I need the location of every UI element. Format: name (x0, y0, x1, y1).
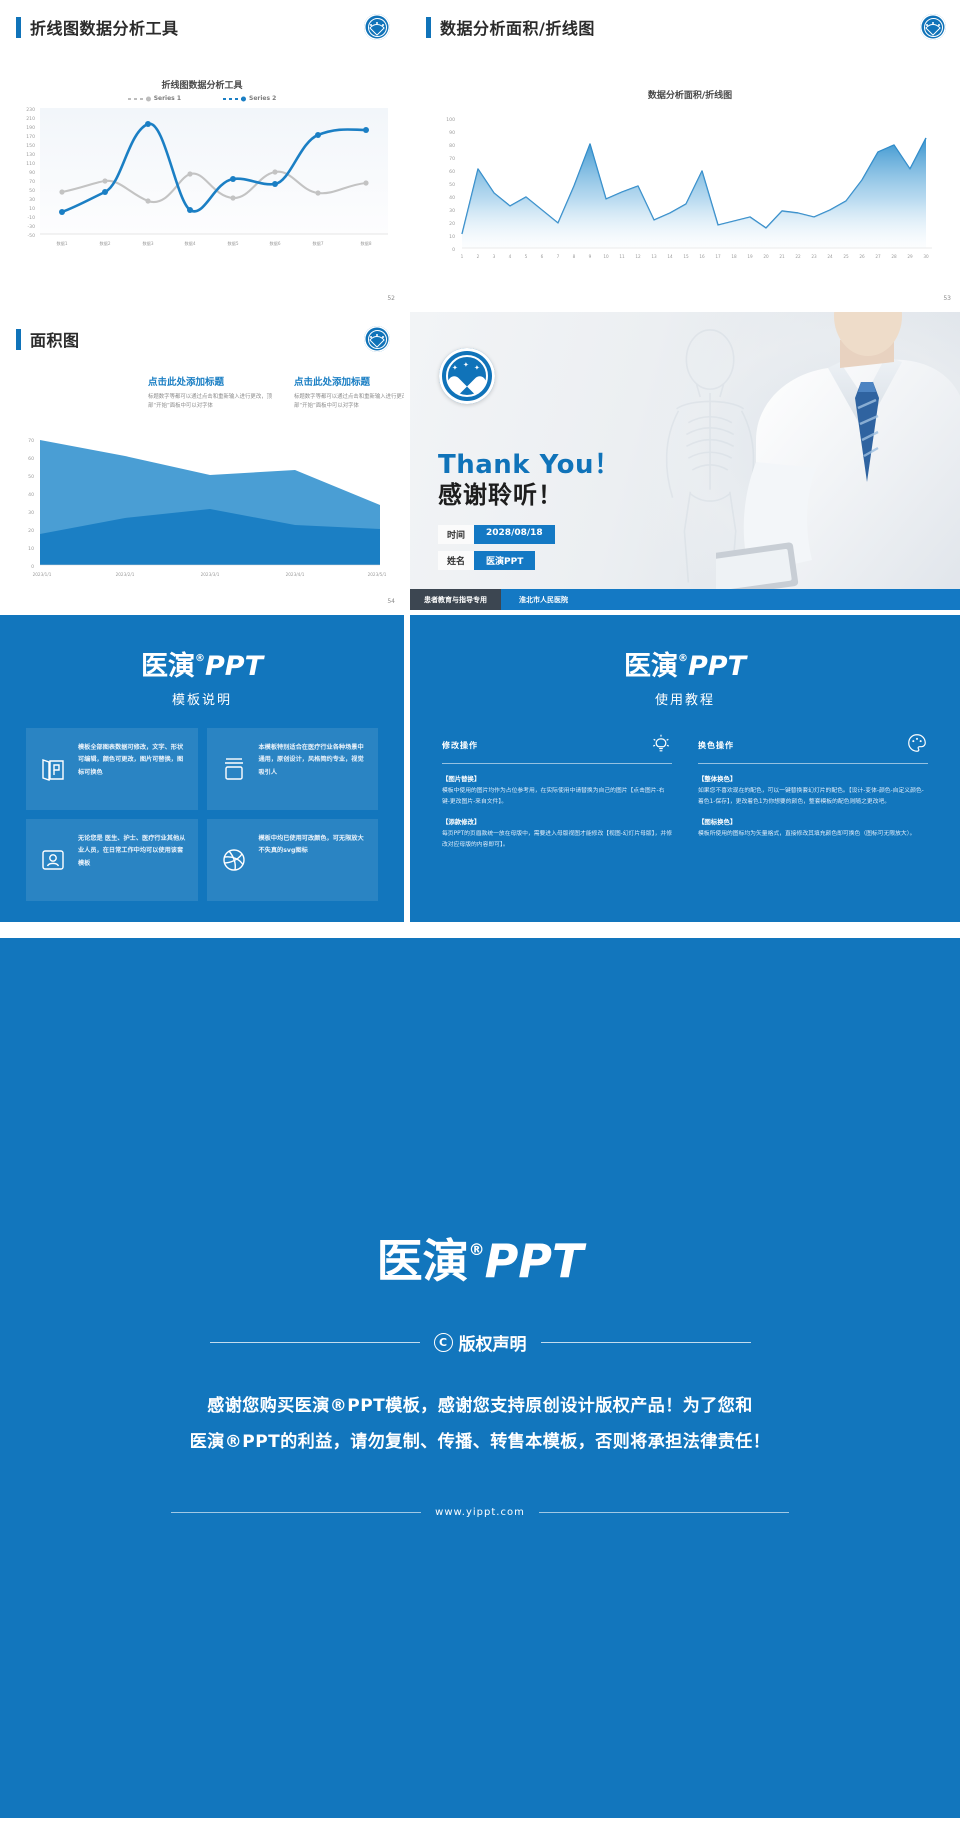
copyright-title-group: C 版权声明 (434, 1330, 527, 1355)
line-chart-svg: 230210190 170150130 1109070 503010 -10-3… (0, 102, 404, 262)
svg-text:27: 27 (875, 254, 881, 259)
divider-line-left (210, 1342, 420, 1343)
svg-text:30: 30 (29, 197, 35, 203)
slide-tutorial[interactable]: 医演 ® PPT 使用教程 修改操作 (410, 615, 960, 922)
feature-card-row: 无论您是 医生、护士、医疗行业其他从业人员，在日常工作中均可以使用该套模板 模板… (26, 819, 378, 901)
slide-header: 折线图数据分析工具 (16, 14, 390, 40)
svg-text:2023/1/1: 2023/1/1 (33, 572, 52, 577)
svg-text:数据4: 数据4 (184, 240, 195, 247)
svg-text:数据6: 数据6 (269, 240, 280, 247)
feature-card-grid: 模板全部图表数据可修改，文字、形状可编辑，颜色可更改，图片可替换，图标可换色 本… (26, 728, 378, 901)
tutorial-column-recolor: 换色操作 【整体换色】 如果您不喜欢现在的配色，可以一键替换 (698, 732, 928, 859)
svg-text:50: 50 (449, 182, 455, 188)
chart-title: 数据分析面积/折线图 (420, 88, 960, 101)
hospital-crest-logo-icon (364, 14, 390, 40)
tutorial-item-title: 【图片替换】 (442, 774, 672, 783)
brand-subtitle: 模板说明 (0, 689, 404, 708)
field-time-value: 2028/08/18 (474, 525, 555, 544)
feature-card[interactable]: 模板中均已使用可改颜色，可无限放大不失真的svg图标 (207, 819, 379, 901)
hospital-crest-logo-icon (364, 326, 390, 352)
chart-area-line: 数据分析面积/折线图 1009080 706050 403020 100 (410, 88, 960, 285)
tutorial-item-body: 如果您不喜欢现在的配色，可以一键替换套幻灯片的配色。【设计-变体-颜色-自定义颜… (698, 786, 928, 809)
svg-text:19: 19 (747, 254, 753, 259)
page-title: 面积图 (30, 327, 80, 351)
tutorial-items: 【整体换色】 如果您不喜欢现在的配色，可以一键替换套幻灯片的配色。【设计-变体-… (698, 774, 928, 840)
legend-item-series2: Series 2 (223, 95, 276, 102)
field-time-label: 时间 (438, 525, 474, 544)
svg-text:22: 22 (795, 254, 801, 259)
legend-label: Series 2 (249, 95, 276, 102)
svg-text:20: 20 (28, 528, 34, 534)
brand-en: PPT (485, 1238, 584, 1284)
svg-text:16: 16 (699, 254, 705, 259)
chart-title: 折线图数据分析工具 (0, 78, 404, 91)
svg-text:100: 100 (446, 117, 455, 123)
svg-text:60: 60 (449, 169, 455, 175)
svg-text:70: 70 (29, 179, 35, 185)
slide-deck-overview: 折线图数据分析工具 折线图数据分析工具 Series 1 Series 2 (0, 0, 960, 1818)
brand-subtitle: 使用教程 (410, 689, 960, 708)
svg-text:-50: -50 (27, 233, 35, 239)
svg-text:30: 30 (449, 208, 455, 214)
brand-registered-mark: ® (678, 654, 688, 664)
svg-text:190: 190 (26, 125, 35, 131)
title-accent-bar (426, 17, 431, 38)
slide-row-2: 面积图 点击此处添加标题 标题数字等都可以通过点击和重新输入进行更改，顶部“开始… (0, 312, 960, 610)
annotation-body: 标题数字等都可以通过点击和重新输入进行更改，顶部“开始”面板中可以对字体 (148, 393, 280, 412)
svg-text:20: 20 (449, 221, 455, 227)
svg-text:2: 2 (477, 254, 480, 259)
footer-tag: 患者教育与指导专用 (410, 589, 501, 610)
svg-text:10: 10 (449, 234, 455, 240)
feature-card-text: 模板中均已使用可改颜色，可无限放大不失真的svg图标 (259, 833, 367, 887)
svg-text:0: 0 (452, 247, 455, 253)
feature-card[interactable]: 模板全部图表数据可修改，文字、形状可编辑，颜色可更改，图片可替换，图标可换色 (26, 728, 198, 810)
svg-text:11: 11 (619, 254, 625, 259)
tutorial-item-body: 每页PPT的页眉款统一放在母版中，需要进入母版视图才能修改【视图-幻灯片母版】，… (442, 829, 672, 852)
svg-text:数据5: 数据5 (227, 240, 238, 247)
copyright-divider: C 版权声明 (210, 1330, 751, 1355)
divider-line-left (171, 1512, 421, 1513)
svg-text:8: 8 (573, 254, 576, 259)
brand-cn: 医演 (624, 653, 678, 680)
svg-text:-10: -10 (27, 215, 35, 221)
annotation-item: 点击此处添加标题 标题数字等都可以通过点击和重新输入进行更改，顶部“开始”面板中… (148, 374, 280, 412)
footer-hospital-name: 淮北市人民医院 (501, 589, 960, 610)
svg-text:50: 50 (28, 474, 34, 480)
svg-text:60: 60 (28, 456, 34, 462)
legend-label: Series 1 (154, 95, 181, 102)
svg-text:21: 21 (779, 254, 785, 259)
person-icon (38, 833, 68, 887)
svg-text:80: 80 (449, 143, 455, 149)
divider-line-right (539, 1512, 789, 1513)
brand-en: PPT (205, 653, 263, 680)
legend-swatch-icon (128, 98, 150, 100)
annotation-list: 点击此处添加标题 标题数字等都可以通过点击和重新输入进行更改，顶部“开始”面板中… (148, 374, 404, 412)
svg-text:130: 130 (26, 152, 35, 158)
field-name: 姓名 医演PPT (438, 551, 535, 570)
svg-text:24: 24 (827, 254, 833, 259)
divider-line-right (541, 1342, 751, 1343)
svg-text:2023/2/1: 2023/2/1 (116, 572, 135, 577)
chart-line: 折线图数据分析工具 Series 1 Series 2 (0, 78, 404, 266)
row-gap (0, 922, 960, 938)
palette-icon (906, 732, 928, 758)
slide-header: 数据分析面积/折线图 (426, 14, 946, 40)
svg-text:18: 18 (731, 254, 737, 259)
svg-text:40: 40 (449, 195, 455, 201)
tutorial-column-header: 换色操作 (698, 732, 928, 764)
books-icon (38, 742, 68, 796)
svg-text:数据7: 数据7 (312, 240, 323, 247)
svg-text:25: 25 (843, 254, 849, 259)
slide-line-chart[interactable]: 折线图数据分析工具 折线图数据分析工具 Series 1 Series 2 (0, 0, 404, 307)
copyright-body-line2: 医演®PPT的利益，请勿复制、传播、转售本模板，否则将承担法律责任！ (190, 1425, 771, 1461)
svg-text:210: 210 (26, 116, 35, 122)
page-title: 折线图数据分析工具 (30, 15, 179, 39)
tutorial-item-title: 【整体换色】 (698, 774, 928, 783)
slide-copyright[interactable]: 医演 ® PPT C 版权声明 感谢您购买医演®PPT模板，感谢您支持原创设计版… (0, 938, 960, 1818)
brand-logo: 医演 ® PPT (410, 653, 960, 680)
svg-text:4: 4 (509, 254, 512, 259)
svg-text:30: 30 (923, 254, 929, 259)
box-icon (219, 742, 249, 796)
tutorial-column-header: 修改操作 (442, 732, 672, 764)
brand-logo: 医演 ® PPT (0, 653, 404, 680)
title-accent-bar (16, 329, 21, 350)
svg-text:26: 26 (859, 254, 865, 259)
brand-registered-mark: ® (195, 654, 205, 664)
tutorial-item-body: 模板中使用的图片均作为占位参考用，在实际使用中请替换为自己的图片【点击图片-右键… (442, 786, 672, 809)
annotation-body: 标题数字等都可以通过点击和重新输入进行更改，顶部“开始”面板中可以对字体 (294, 393, 404, 412)
brand-block: 医演 ® PPT 模板说明 (0, 615, 404, 708)
svg-text:2023/5/1: 2023/5/1 (368, 572, 387, 577)
svg-text:数据2: 数据2 (99, 240, 110, 247)
svg-text:170: 170 (26, 134, 35, 140)
svg-text:9: 9 (589, 254, 592, 259)
slide-thank-you[interactable]: ✦✦✦ Thank You！ 感谢聆听！ 时间 2028/08/18 姓名 医演… (410, 312, 960, 610)
bulb-icon (650, 732, 672, 758)
page-title: 数据分析面积/折线图 (440, 15, 595, 39)
tutorial-columns: 修改操作 【图片替换】 模板中使用的图片均作为占位参考用，在实际使用中请替换为自… (442, 732, 928, 859)
svg-text:数据1: 数据1 (56, 240, 67, 247)
svg-text:13: 13 (651, 254, 657, 259)
svg-text:14: 14 (667, 254, 673, 259)
slide-row-1: 折线图数据分析工具 折线图数据分析工具 Series 1 Series 2 (0, 0, 960, 307)
svg-text:70: 70 (28, 438, 34, 444)
svg-text:数据8: 数据8 (360, 240, 371, 247)
brand-registered-mark: ® (469, 1242, 485, 1258)
svg-text:23: 23 (811, 254, 817, 259)
hospital-crest-logo-large-icon: ✦✦✦ (439, 348, 495, 404)
copyright-title: 版权声明 (459, 1330, 527, 1355)
svg-text:6: 6 (541, 254, 544, 259)
annotation-heading: 点击此处添加标题 (148, 374, 280, 388)
svg-text:3: 3 (493, 254, 496, 259)
svg-text:70: 70 (449, 156, 455, 162)
slide-footer: 患者教育与指导专用 淮北市人民医院 (410, 589, 960, 610)
svg-text:1: 1 (461, 254, 464, 259)
svg-text:10: 10 (603, 254, 609, 259)
svg-text:50: 50 (29, 188, 35, 194)
feature-card-text: 本模板特别适合在医疗行业各种场景中通用，原创设计，风格简约专业，视觉吸引人 (259, 742, 367, 796)
field-time: 时间 2028/08/18 (438, 525, 555, 544)
brand-cn: 医演 (141, 653, 195, 680)
thank-you-background: ✦✦✦ Thank You！ 感谢聆听！ 时间 2028/08/18 姓名 医演… (410, 312, 960, 610)
svg-text:数据3: 数据3 (142, 240, 153, 247)
slide-template-note[interactable]: 医演 ® PPT 模板说明 模板全部图表数据可修改， (0, 615, 404, 922)
chart-legend: Series 1 Series 2 (0, 95, 404, 102)
tutorial-item-title: 【添款修改】 (442, 817, 672, 826)
svg-text:2023/3/1: 2023/3/1 (201, 572, 220, 577)
svg-text:28: 28 (891, 254, 897, 259)
annotation-item: 点击此处添加标题 标题数字等都可以通过点击和重新输入进行更改，顶部“开始”面板中… (294, 374, 404, 412)
tutorial-column-edit: 修改操作 【图片替换】 模板中使用的图片均作为占位参考用，在实际使用中请替换为自… (442, 732, 672, 859)
stacked-area-chart-svg: 706050 403020 100 2023/1/1 2023/2/1 2023… (0, 430, 404, 590)
svg-text:150: 150 (26, 143, 35, 149)
svg-text:30: 30 (28, 510, 34, 516)
svg-text:20: 20 (763, 254, 769, 259)
copyright-body: 感谢您购买医演®PPT模板，感谢您支持原创设计版权产品！为了您和 医演®PPT的… (190, 1389, 771, 1460)
slide-number: 52 (387, 295, 395, 302)
svg-text:17: 17 (715, 254, 721, 259)
brand-block: 医演 ® PPT 使用教程 (410, 615, 960, 708)
svg-text:230: 230 (26, 107, 35, 113)
brand-en: PPT (688, 653, 746, 680)
svg-text:90: 90 (449, 130, 455, 136)
svg-text:7: 7 (557, 254, 560, 259)
svg-text:40: 40 (28, 492, 34, 498)
slide-number: 53 (943, 295, 951, 302)
slide-area-line-chart[interactable]: 数据分析面积/折线图 数据分析面积/折线图 (410, 0, 960, 307)
legend-swatch-icon (223, 98, 245, 100)
copyright-mark-icon: C (434, 1333, 453, 1352)
thank-you-chinese: 感谢聆听！ (438, 475, 563, 510)
ball-icon (219, 833, 249, 887)
feature-card-text: 模板全部图表数据可修改，文字、形状可编辑，颜色可更改，图片可替换，图标可换色 (78, 742, 186, 796)
svg-text:29: 29 (907, 254, 913, 259)
slide-area-chart[interactable]: 面积图 点击此处添加标题 标题数字等都可以通过点击和重新输入进行更改，顶部“开始… (0, 312, 404, 610)
tutorial-heading: 修改操作 (442, 740, 478, 751)
feature-card-text: 无论您是 医生、护士、医疗行业其他从业人员，在日常工作中均可以使用该套模板 (78, 833, 186, 887)
field-name-value: 医演PPT (474, 551, 535, 570)
title-accent-bar (16, 17, 21, 38)
brand-logo: 医演 ® PPT (377, 1238, 584, 1284)
brand-cn: 医演 (377, 1238, 469, 1284)
svg-text:5: 5 (525, 254, 528, 259)
tutorial-item-title: 【图标换色】 (698, 817, 928, 826)
svg-text:10: 10 (28, 546, 34, 552)
svg-text:90: 90 (29, 170, 35, 176)
legend-item-series1: Series 1 (128, 95, 181, 102)
copyright-body-line1: 感谢您购买医演®PPT模板，感谢您支持原创设计版权产品！为了您和 (190, 1389, 771, 1425)
doctor-photo-graphic (716, 312, 960, 610)
svg-text:12: 12 (635, 254, 641, 259)
area-line-chart-svg: 1009080 706050 403020 100 123 456 789 10… (410, 101, 960, 281)
annotation-heading: 点击此处添加标题 (294, 374, 404, 388)
feature-card[interactable]: 无论您是 医生、护士、医疗行业其他从业人员，在日常工作中均可以使用该套模板 (26, 819, 198, 901)
field-name-label: 姓名 (438, 551, 474, 570)
slide-header: 面积图 (16, 326, 390, 352)
svg-text:15: 15 (683, 254, 689, 259)
feature-card[interactable]: 本模板特别适合在医疗行业各种场景中通用，原创设计，风格简约专业，视觉吸引人 (207, 728, 379, 810)
svg-text:110: 110 (26, 161, 35, 167)
slide-row-3: 医演 ® PPT 模板说明 模板全部图表数据可修改， (0, 615, 960, 922)
svg-text:2023/4/1: 2023/4/1 (286, 572, 305, 577)
hospital-crest-logo-icon (920, 14, 946, 40)
svg-text:-30: -30 (27, 224, 35, 230)
slide-number: 54 (387, 598, 395, 605)
website-url: www.yippt.com (435, 1507, 525, 1518)
svg-text:10: 10 (29, 206, 35, 212)
tutorial-item-body: 模板所使用的图标均为矢量格式，直接修改其填充颜色即可换色（图标可无限放大）。 (698, 829, 928, 840)
svg-text:0: 0 (31, 564, 34, 570)
copyright-url-row: www.yippt.com (171, 1507, 789, 1518)
tutorial-heading: 换色操作 (698, 740, 734, 751)
tutorial-items: 【图片替换】 模板中使用的图片均作为占位参考用，在实际使用中请替换为自己的图片【… (442, 774, 672, 851)
feature-card-row: 模板全部图表数据可修改，文字、形状可编辑，颜色可更改，图片可替换，图标可换色 本… (26, 728, 378, 810)
